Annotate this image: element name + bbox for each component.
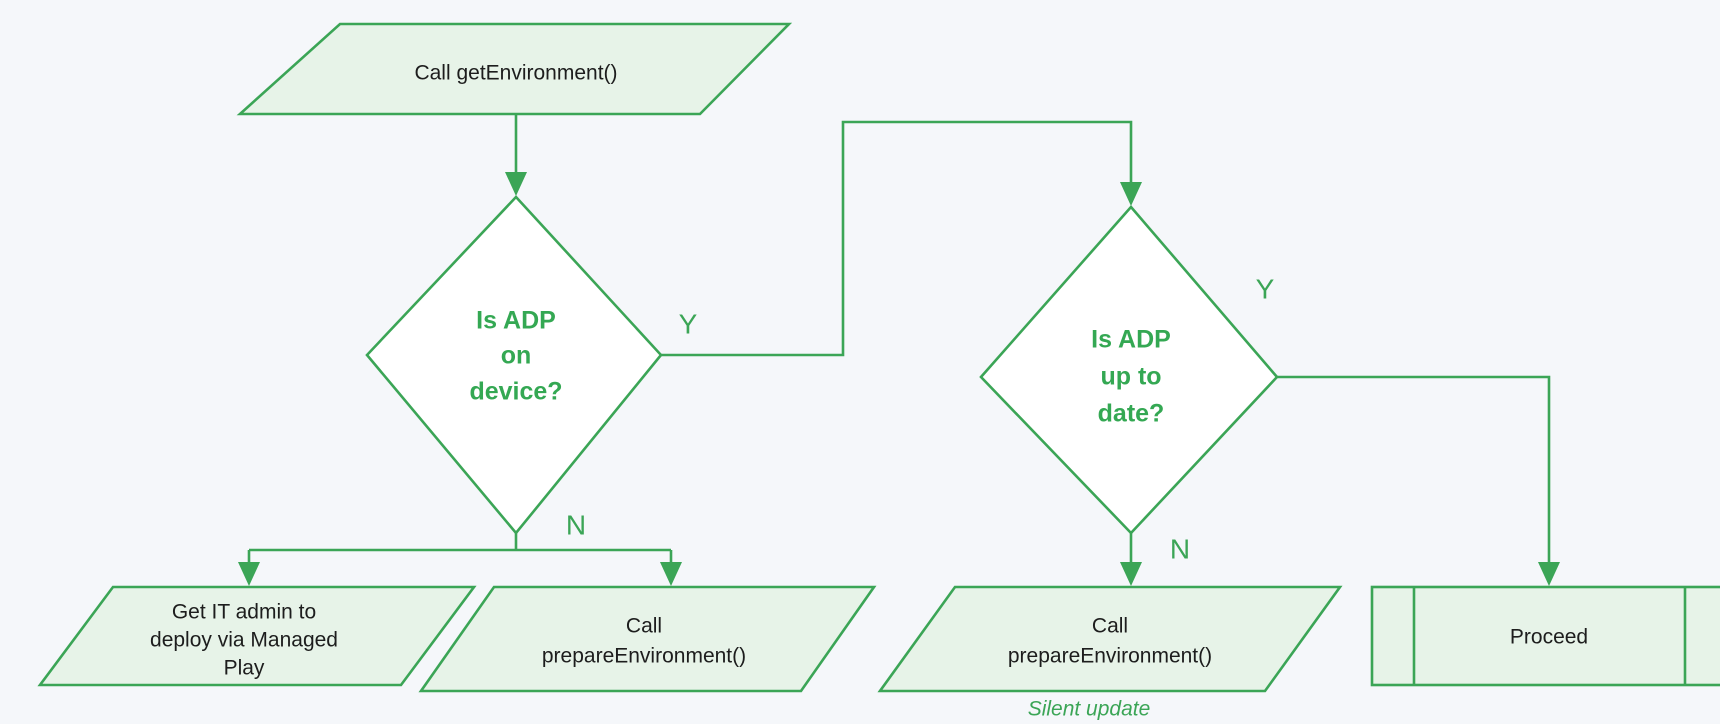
arrowhead-icon (238, 562, 260, 586)
connector-on-device-no-split (238, 533, 682, 586)
node-label-line1: Call (626, 615, 662, 638)
decision-label-line2: on (501, 342, 532, 370)
node-label-line3: Play (224, 657, 265, 680)
flowchart-canvas: Call getEnvironment() Is ADP on device? … (0, 0, 1720, 724)
decision-is-adp-up-to-date[interactable]: Is ADP up to date? (981, 207, 1277, 533)
node-call-get-environment[interactable]: Call getEnvironment() (240, 24, 789, 114)
node-call-prepare-environment-left[interactable]: Call prepareEnvironment() (421, 587, 874, 691)
node-label-proceed: Proceed (1510, 626, 1588, 649)
decision-label-line1: Is ADP (476, 307, 556, 335)
node-label-call-get-environment: Call getEnvironment() (414, 62, 617, 85)
node-label-line2: prepareEnvironment() (542, 645, 746, 668)
parallelogram-shape (421, 587, 874, 691)
connector-up-to-date-yes-to-proceed (1277, 377, 1560, 586)
connector-up-to-date-no-to-prepare (1120, 533, 1142, 586)
arrowhead-icon (1120, 182, 1142, 206)
caption-silent-update: Silent update (1028, 698, 1151, 721)
decision-is-adp-on-device[interactable]: Is ADP on device? (367, 197, 661, 533)
branch-label-on-device-yes: Y (679, 308, 698, 339)
arrowhead-icon (660, 562, 682, 586)
branch-label-on-device-no: N (566, 509, 586, 540)
node-label-line2: prepareEnvironment() (1008, 645, 1212, 668)
decision-label-line2: up to (1100, 363, 1161, 391)
arrowhead-icon (1538, 562, 1560, 586)
node-label-line1: Get IT admin to (172, 601, 316, 624)
arrowhead-icon (1120, 562, 1142, 586)
node-label-line2: deploy via Managed (150, 629, 338, 652)
connector-start-to-decision-on-device (505, 114, 527, 196)
node-label-line1: Call (1092, 615, 1128, 638)
branch-label-up-to-date-no: N (1170, 533, 1190, 564)
arrowhead-icon (505, 172, 527, 196)
node-proceed[interactable]: Proceed (1372, 587, 1720, 685)
branch-label-up-to-date-yes: Y (1256, 273, 1275, 304)
decision-label-line3: date? (1098, 400, 1165, 428)
decision-label-line3: device? (469, 378, 562, 406)
parallelogram-shape (880, 587, 1340, 691)
decision-label-line1: Is ADP (1091, 326, 1171, 354)
node-call-prepare-environment-right[interactable]: Call prepareEnvironment() (880, 587, 1340, 691)
flowchart-svg: Call getEnvironment() Is ADP on device? … (0, 0, 1720, 724)
node-get-it-admin-deploy[interactable]: Get IT admin to deploy via Managed Play (40, 587, 474, 685)
